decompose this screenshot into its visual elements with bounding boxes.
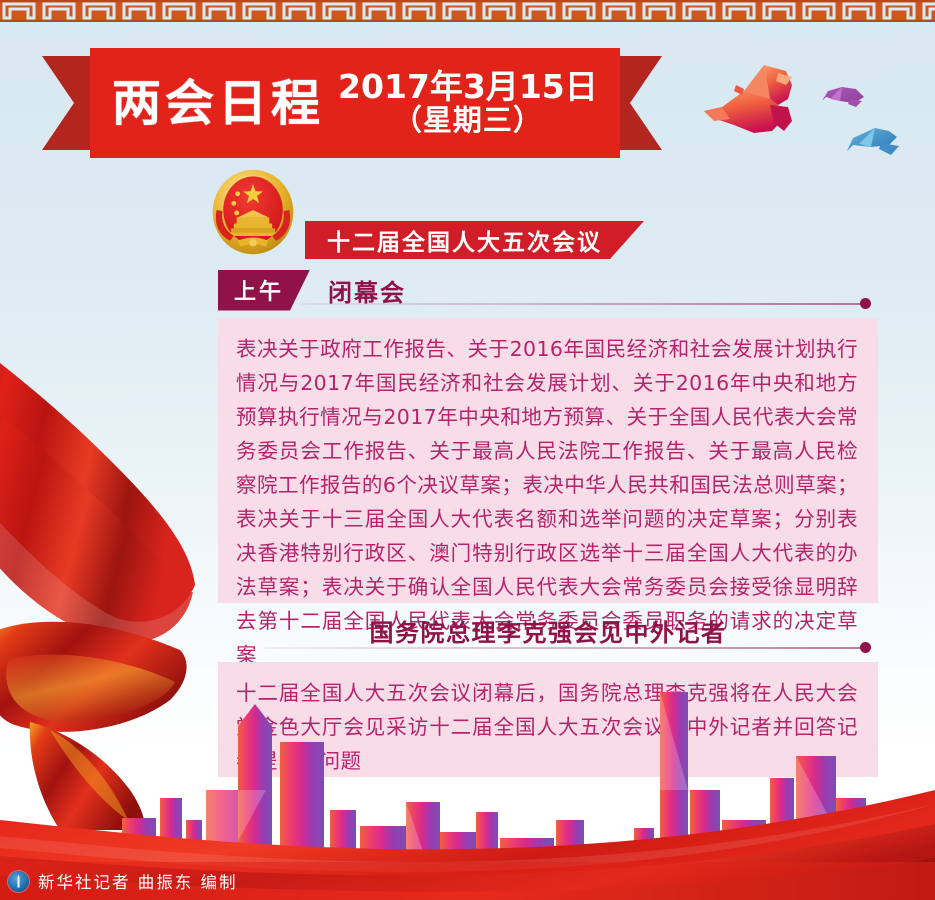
dove-orange-icon bbox=[700, 55, 820, 150]
infographic-poster: 两会日程 2017年3月15日 （星期三） bbox=[0, 0, 935, 900]
slot-badge-morning: 上午 bbox=[218, 270, 310, 311]
header-date-line2: （星期三） bbox=[338, 105, 598, 135]
header-date: 2017年3月15日 （星期三） bbox=[338, 70, 598, 135]
header-date-line1: 2017年3月15日 bbox=[338, 70, 598, 105]
dove-purple-icon bbox=[820, 83, 868, 115]
xinhua-logo-icon bbox=[8, 871, 29, 892]
agenda-content-box-1: 表决关于政府工作报告、关于2016年国民经济和社会发展计划执行情况与2017年国… bbox=[218, 318, 878, 603]
agenda-heading-2: 国务院总理李克强会见中外记者 bbox=[218, 613, 878, 648]
connector-rule-2 bbox=[265, 647, 865, 649]
ribbon-main-panel: 两会日程 2017年3月15日 （星期三） bbox=[90, 48, 620, 158]
page-title: 两会日程 bbox=[112, 79, 324, 128]
header-ribbon: 两会日程 2017年3月15日 （星期三） bbox=[42, 48, 662, 158]
credit-bar: 新华社记者 曲振东 编制 bbox=[0, 862, 935, 900]
agenda-slot-row: 上午 闭幕会 bbox=[218, 268, 878, 312]
top-border-bar bbox=[0, 0, 935, 22]
session-banner-label: 十二届全国人大五次会议 bbox=[327, 223, 602, 257]
agenda-item-title-2: 国务院总理李克强会见中外记者 bbox=[370, 619, 727, 647]
credit-text: 新华社记者 曲振东 编制 bbox=[38, 869, 238, 893]
greek-key-pattern bbox=[0, 0, 935, 22]
connector-dot-1 bbox=[860, 298, 871, 309]
national-emblem-icon bbox=[205, 163, 301, 261]
connector-rule-1 bbox=[300, 303, 866, 305]
session-banner: 十二届全国人大五次会议 bbox=[305, 221, 644, 259]
dove-blue-icon bbox=[845, 125, 903, 163]
connector-dot-2 bbox=[860, 642, 871, 653]
